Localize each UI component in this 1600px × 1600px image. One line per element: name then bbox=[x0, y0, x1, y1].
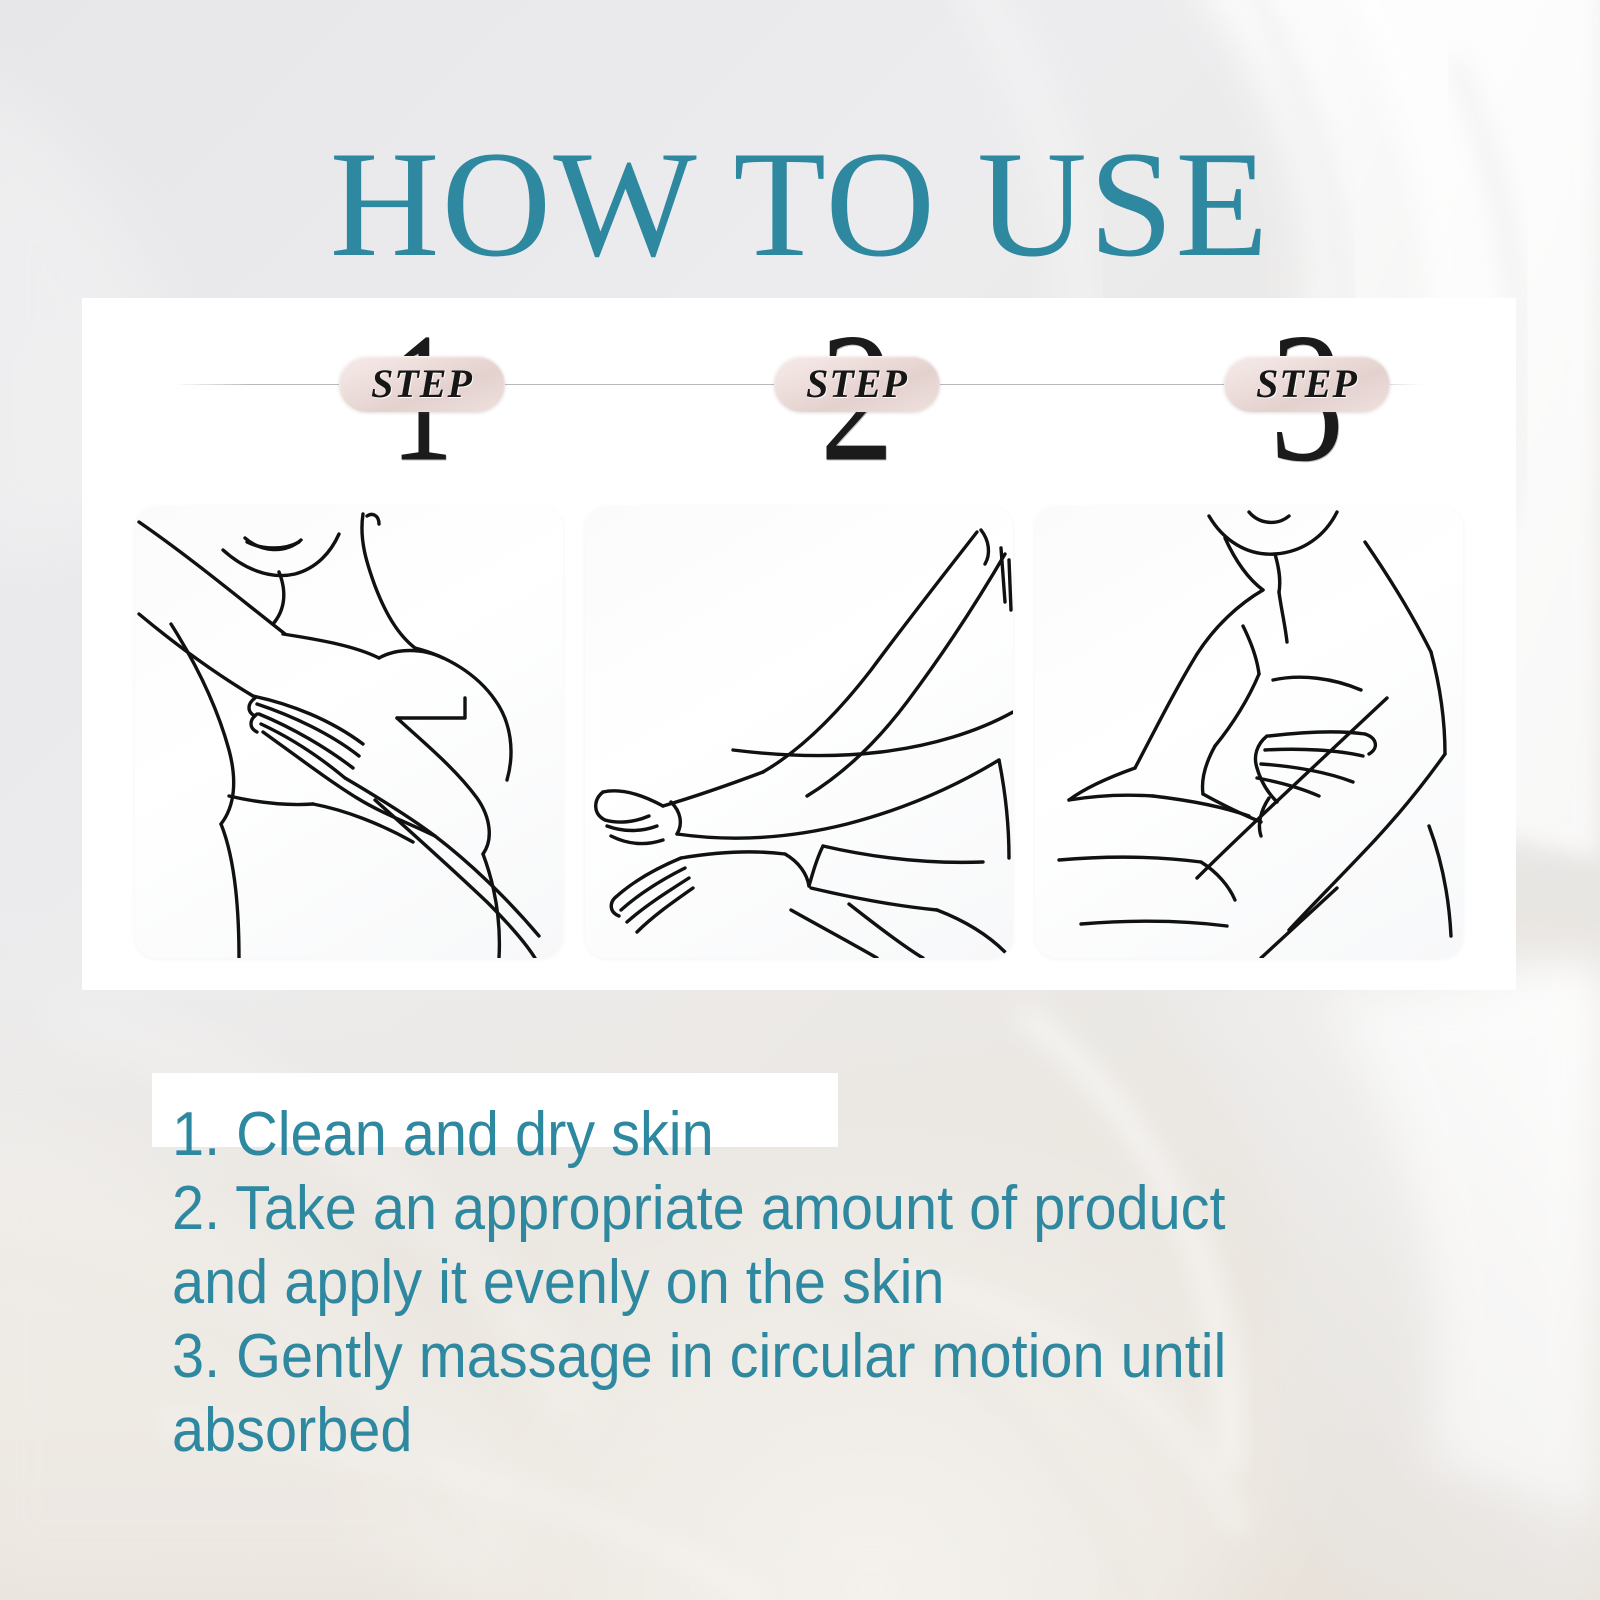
page-title: HOW TO USE bbox=[0, 128, 1600, 280]
step-marker-3: 3 STEP bbox=[1157, 298, 1457, 498]
step-header-row: 1 STEP 2 STEP 3 STEP bbox=[82, 298, 1516, 498]
instructions-block: 1. Clean and dry skin 2. Take an appropr… bbox=[172, 1098, 1472, 1468]
instruction-line-3: and apply it evenly on the skin bbox=[172, 1246, 1381, 1320]
steps-card: 1 STEP 2 STEP 3 STEP bbox=[82, 298, 1516, 990]
illustration-panel-1 bbox=[135, 506, 563, 958]
step-badge-1: STEP bbox=[339, 356, 505, 412]
instruction-line-2: 2. Take an appropriate amount of product bbox=[172, 1172, 1381, 1246]
step-badge-label-2: STEP bbox=[806, 360, 908, 407]
illustration-panel-3 bbox=[1035, 506, 1463, 958]
step-marker-1: 1 STEP bbox=[272, 298, 572, 498]
step-badge-3: STEP bbox=[1224, 356, 1390, 412]
instruction-line-1: 1. Clean and dry skin bbox=[172, 1098, 1381, 1172]
illustration-panels bbox=[82, 506, 1516, 976]
step-badge-label-3: STEP bbox=[1256, 360, 1358, 407]
step-marker-2: 2 STEP bbox=[707, 298, 1007, 498]
instruction-line-5: absorbed bbox=[172, 1394, 1381, 1468]
step-badge-label-1: STEP bbox=[371, 360, 473, 407]
illustration-panel-2 bbox=[585, 506, 1013, 958]
instruction-line-4: 3. Gently massage in circular motion unt… bbox=[172, 1320, 1381, 1394]
step-badge-2: STEP bbox=[774, 356, 940, 412]
